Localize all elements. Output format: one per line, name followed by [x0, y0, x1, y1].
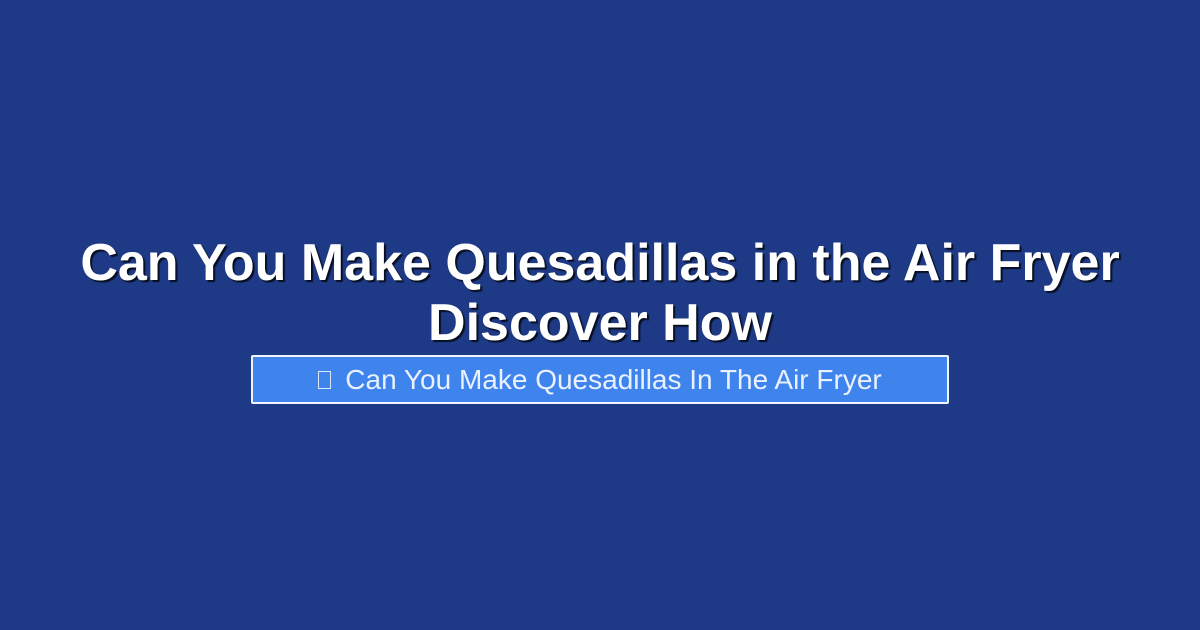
topic-badge[interactable]: Can You Make Quesadillas In The Air Frye…	[251, 355, 949, 404]
missing-glyph-box-icon	[318, 371, 331, 389]
badge-container: Can You Make Quesadillas In The Air Frye…	[0, 355, 1200, 404]
page-title: Can You Make Quesadillas in the Air Frye…	[0, 233, 1200, 353]
topic-badge-label: Can You Make Quesadillas In The Air Frye…	[345, 365, 881, 395]
share-card: Can You Make Quesadillas in the Air Frye…	[0, 0, 1200, 630]
